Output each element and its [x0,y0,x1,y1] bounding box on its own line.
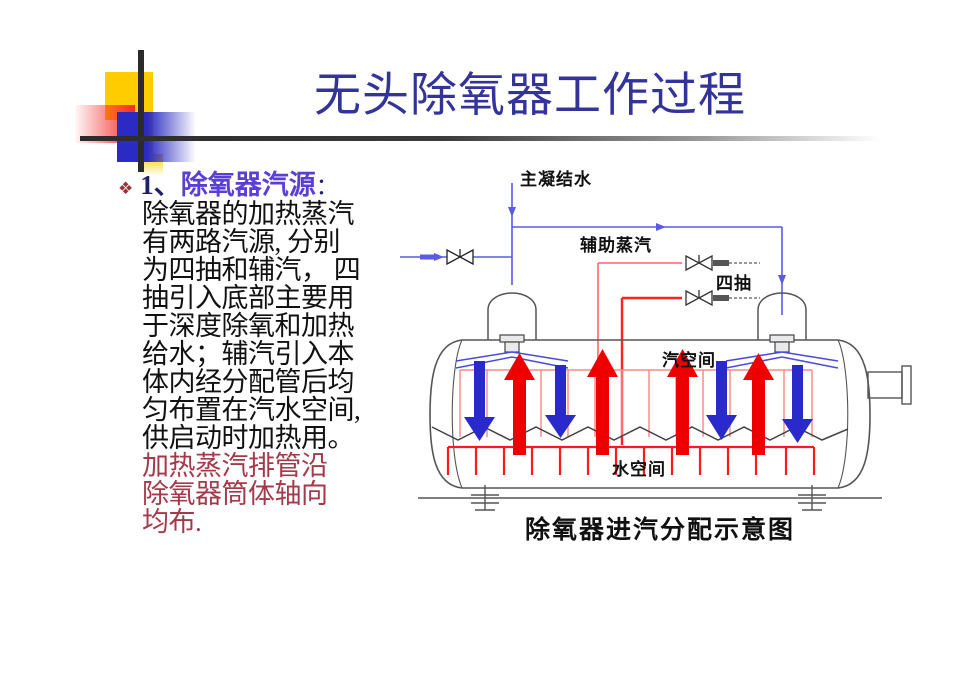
condensate-inlet-valve-icon [447,249,473,264]
vessel-outlet-nozzle [868,366,911,404]
down-arrow [464,361,495,441]
emphasis-line: 均布. [142,508,398,536]
spray-fan-right [726,352,838,368]
nozzle-flange [902,366,911,404]
emphasis-line: 除氧器筒体轴向 [142,480,398,508]
diamond-bullet-icon: ❖ [118,180,133,197]
section-heading: ❖ 1、除氧器汽源： [118,172,398,200]
label-fourth-extraction: 四抽 [716,269,752,294]
page-title: 无头除氧器工作过程 [250,56,810,125]
water-level-line [432,427,848,440]
heading-main: 除氧器汽源 [181,170,316,200]
body-text-column: ❖ 1、除氧器汽源： 除氧器的加热蒸汽 有两路汽源, 分别 为四抽和辅汽， 四 … [118,172,398,536]
right-head-seam [838,340,848,488]
heading-text-group: 1、除氧器汽源： [140,172,339,200]
spray-fan-left [456,352,568,368]
paragraph-line: 给水；辅汽引入本 [142,340,398,368]
label-auxiliary-steam: 辅助蒸汽 [580,231,652,256]
label-main-condensate: 主凝结水 [520,165,592,190]
heading-number: 1、 [140,170,181,200]
paragraph-line: 体内经分配管后均 [142,368,398,396]
label-steam-space: 汽空间 [662,346,716,371]
deco-horizontal-rule [80,136,880,141]
label-water-space: 水空间 [612,455,666,480]
manway-dome-left [488,293,536,340]
deaerator-schematic: 主凝结水 辅助蒸汽 四抽 汽空间 水空间 [400,165,940,565]
down-arrow [706,361,737,440]
paragraph-line: 有两路汽源, 分别 [142,228,398,256]
manway-left [488,293,536,340]
paragraph-line: 为四抽和辅汽， 四 [142,256,398,284]
paragraph-line: 抽引入底部主要用 [142,284,398,312]
paragraph-line: 供启动时加热用。 [142,424,398,452]
paragraph-line: 除氧器的加热蒸汽 [142,200,398,228]
diagram-caption: 除氧器进汽分配示意图 [460,510,860,546]
paragraph-line: 匀布置在汽水空间, [142,396,398,424]
emphasis-line: 加热蒸汽排管沿 [142,452,398,480]
internal-flow-arrows [464,349,813,455]
slide-decoration [75,50,215,185]
down-arrow [545,365,576,438]
heading-colon: ： [316,174,339,199]
paragraph-line: 于深度除氧和加热 [142,312,398,340]
nozzle-barrel [868,372,902,398]
deco-vertical-rule [138,50,144,172]
aux-steam-valve-icon [686,255,760,270]
